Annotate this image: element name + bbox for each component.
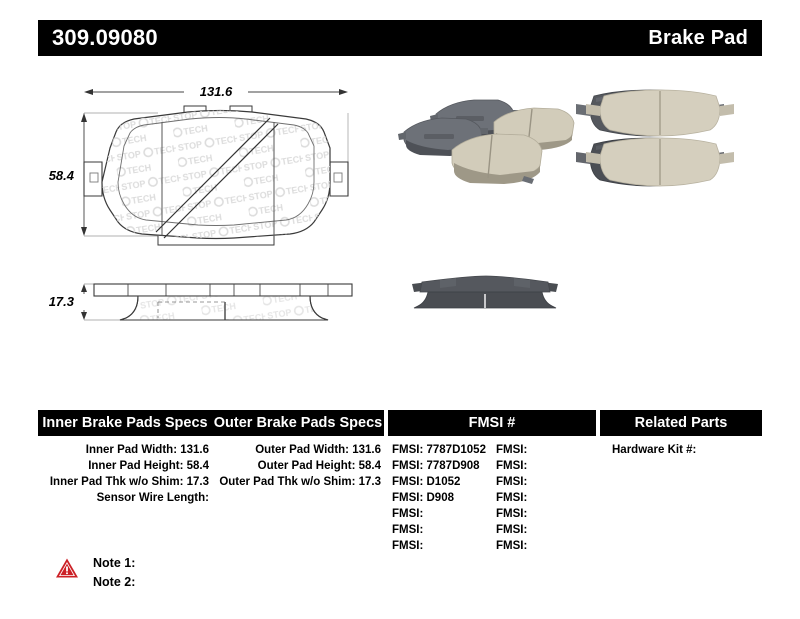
- fmsi-label: FMSI:: [496, 444, 527, 456]
- column-header-inner-specs: Inner Brake Pads Specs: [38, 410, 212, 436]
- fmsi-row: FMSI:: [496, 538, 600, 554]
- fmsi-row: FMSI:: [496, 506, 600, 522]
- note-item: Note 2:: [93, 573, 135, 592]
- fmsi-label: FMSI:: [496, 508, 527, 520]
- fmsi-row: FMSI: 7787D908: [392, 458, 496, 474]
- spec-table: Inner Brake Pads Specs Outer Brake Pads …: [38, 410, 762, 554]
- spec-value: 17.3: [187, 476, 209, 488]
- spec-value: 58.4: [359, 460, 381, 472]
- fmsi-label: FMSI:: [392, 476, 427, 488]
- fmsi-value: 7787D1052: [427, 444, 486, 456]
- pad-photo-grid-friction-top: [586, 90, 734, 136]
- fmsi-row: FMSI:: [496, 442, 600, 458]
- spec-row: Outer Pad Width: 131.6: [212, 442, 384, 458]
- spec-label: Inner Pad Thk w/o Shim:: [50, 476, 187, 488]
- product-photo-edge-view: [394, 266, 576, 324]
- spec-row: Inner Pad Thk w/o Shim: 17.3: [38, 474, 212, 490]
- fmsi-row: FMSI: D908: [392, 490, 496, 506]
- fmsi-value: D908: [427, 492, 455, 504]
- spec-label: Inner Pad Width:: [86, 444, 180, 456]
- fmsi-value: D1052: [427, 476, 461, 488]
- fmsi-label: FMSI:: [496, 524, 527, 536]
- spec-label: Outer Pad Thk w/o Shim:: [219, 476, 358, 488]
- note-item: Note 1:: [93, 554, 135, 573]
- pad-photo-grid-friction-bottom: [586, 138, 734, 186]
- height-dimension-label: 58.4: [49, 168, 75, 183]
- pad-face-view: [84, 100, 358, 250]
- spec-row: Sensor Wire Length:: [38, 490, 212, 506]
- spec-row: Inner Pad Height: 58.4: [38, 458, 212, 474]
- spec-label: Outer Pad Width:: [255, 444, 352, 456]
- fmsi-row: FMSI:: [392, 506, 496, 522]
- spec-label: Inner Pad Height:: [88, 460, 186, 472]
- product-photo-grid-set: [566, 88, 762, 192]
- spec-row: Outer Pad Height: 58.4: [212, 458, 384, 474]
- width-dimension-label: 131.6: [200, 84, 233, 99]
- fmsi-row: FMSI:: [392, 522, 496, 538]
- fmsi-label: FMSI:: [496, 460, 527, 472]
- fmsi-label: FMSI:: [496, 540, 527, 552]
- fmsi-label: FMSI:: [392, 492, 427, 504]
- fmsi-value: 7787D908: [427, 460, 480, 472]
- fmsi-label: FMSI:: [496, 476, 527, 488]
- related-parts-cell: Hardware Kit #:: [604, 442, 762, 554]
- spec-row: Inner Pad Width: 131.6: [38, 442, 212, 458]
- fmsi-row: FMSI:: [496, 474, 600, 490]
- inner-specs-cell: Inner Pad Width: 131.6 Inner Pad Height:…: [38, 442, 212, 554]
- fmsi-label: FMSI:: [496, 492, 527, 504]
- page-title: Brake Pad: [648, 28, 748, 48]
- spec-value: 131.6: [180, 444, 209, 456]
- pad-photo-friction-lower: [452, 134, 542, 184]
- related-part-row: Hardware Kit #:: [604, 442, 762, 458]
- spec-table-header-row: Inner Brake Pads Specs Outer Brake Pads …: [38, 410, 762, 436]
- spec-table-body: Inner Pad Width: 131.6 Inner Pad Height:…: [38, 436, 762, 554]
- spec-label: Outer Pad Height:: [258, 460, 359, 472]
- product-illustration-area: STOP TECH STOP TECH 131.6: [38, 70, 762, 380]
- column-header-related-parts: Related Parts: [600, 410, 762, 436]
- fmsi-column-left: FMSI: 7787D1052 FMSI: 7787D908 FMSI: D10…: [392, 442, 496, 554]
- header-bar: 309.09080 Brake Pad: [38, 20, 762, 56]
- fmsi-row: FMSI:: [392, 538, 496, 554]
- thickness-dimension-label: 17.3: [49, 294, 75, 309]
- spec-row: Outer Pad Thk w/o Shim: 17.3: [212, 474, 384, 490]
- fmsi-row: FMSI: 7787D1052: [392, 442, 496, 458]
- spec-value: 17.3: [359, 476, 381, 488]
- fmsi-row: FMSI:: [496, 522, 600, 538]
- fmsi-row: FMSI:: [496, 458, 600, 474]
- fmsi-label: FMSI:: [392, 524, 423, 536]
- fmsi-label: FMSI:: [392, 508, 423, 520]
- fmsi-column-right: FMSI: FMSI: FMSI: FMSI:: [496, 442, 600, 554]
- technical-drawing: STOP TECH STOP TECH 131.6: [38, 70, 398, 360]
- notes-section: Note 1: Note 2:: [55, 554, 135, 592]
- warning-triangle-icon: [55, 557, 79, 579]
- column-header-fmsi: FMSI #: [388, 410, 596, 436]
- fmsi-cell: FMSI: 7787D1052 FMSI: 7787D908 FMSI: D10…: [388, 442, 600, 554]
- spec-value: 131.6: [352, 444, 381, 456]
- pad-side-view: 17.3: [49, 284, 352, 320]
- fmsi-label: FMSI:: [392, 540, 423, 552]
- outer-specs-cell: Outer Pad Width: 131.6 Outer Pad Height:…: [212, 442, 384, 554]
- fmsi-label: FMSI:: [392, 460, 427, 472]
- fmsi-label: FMSI:: [392, 444, 427, 456]
- spec-value: 58.4: [187, 460, 209, 472]
- notes-list: Note 1: Note 2:: [93, 554, 135, 592]
- fmsi-row: FMSI:: [496, 490, 600, 506]
- fmsi-row: FMSI: D1052: [392, 474, 496, 490]
- related-part-label: Hardware Kit #:: [612, 444, 696, 456]
- product-photo-angled-set: [394, 88, 576, 192]
- part-number: 309.09080: [52, 27, 158, 49]
- column-header-outer-specs: Outer Brake Pads Specs: [212, 410, 384, 436]
- spec-label: Sensor Wire Length:: [97, 492, 209, 504]
